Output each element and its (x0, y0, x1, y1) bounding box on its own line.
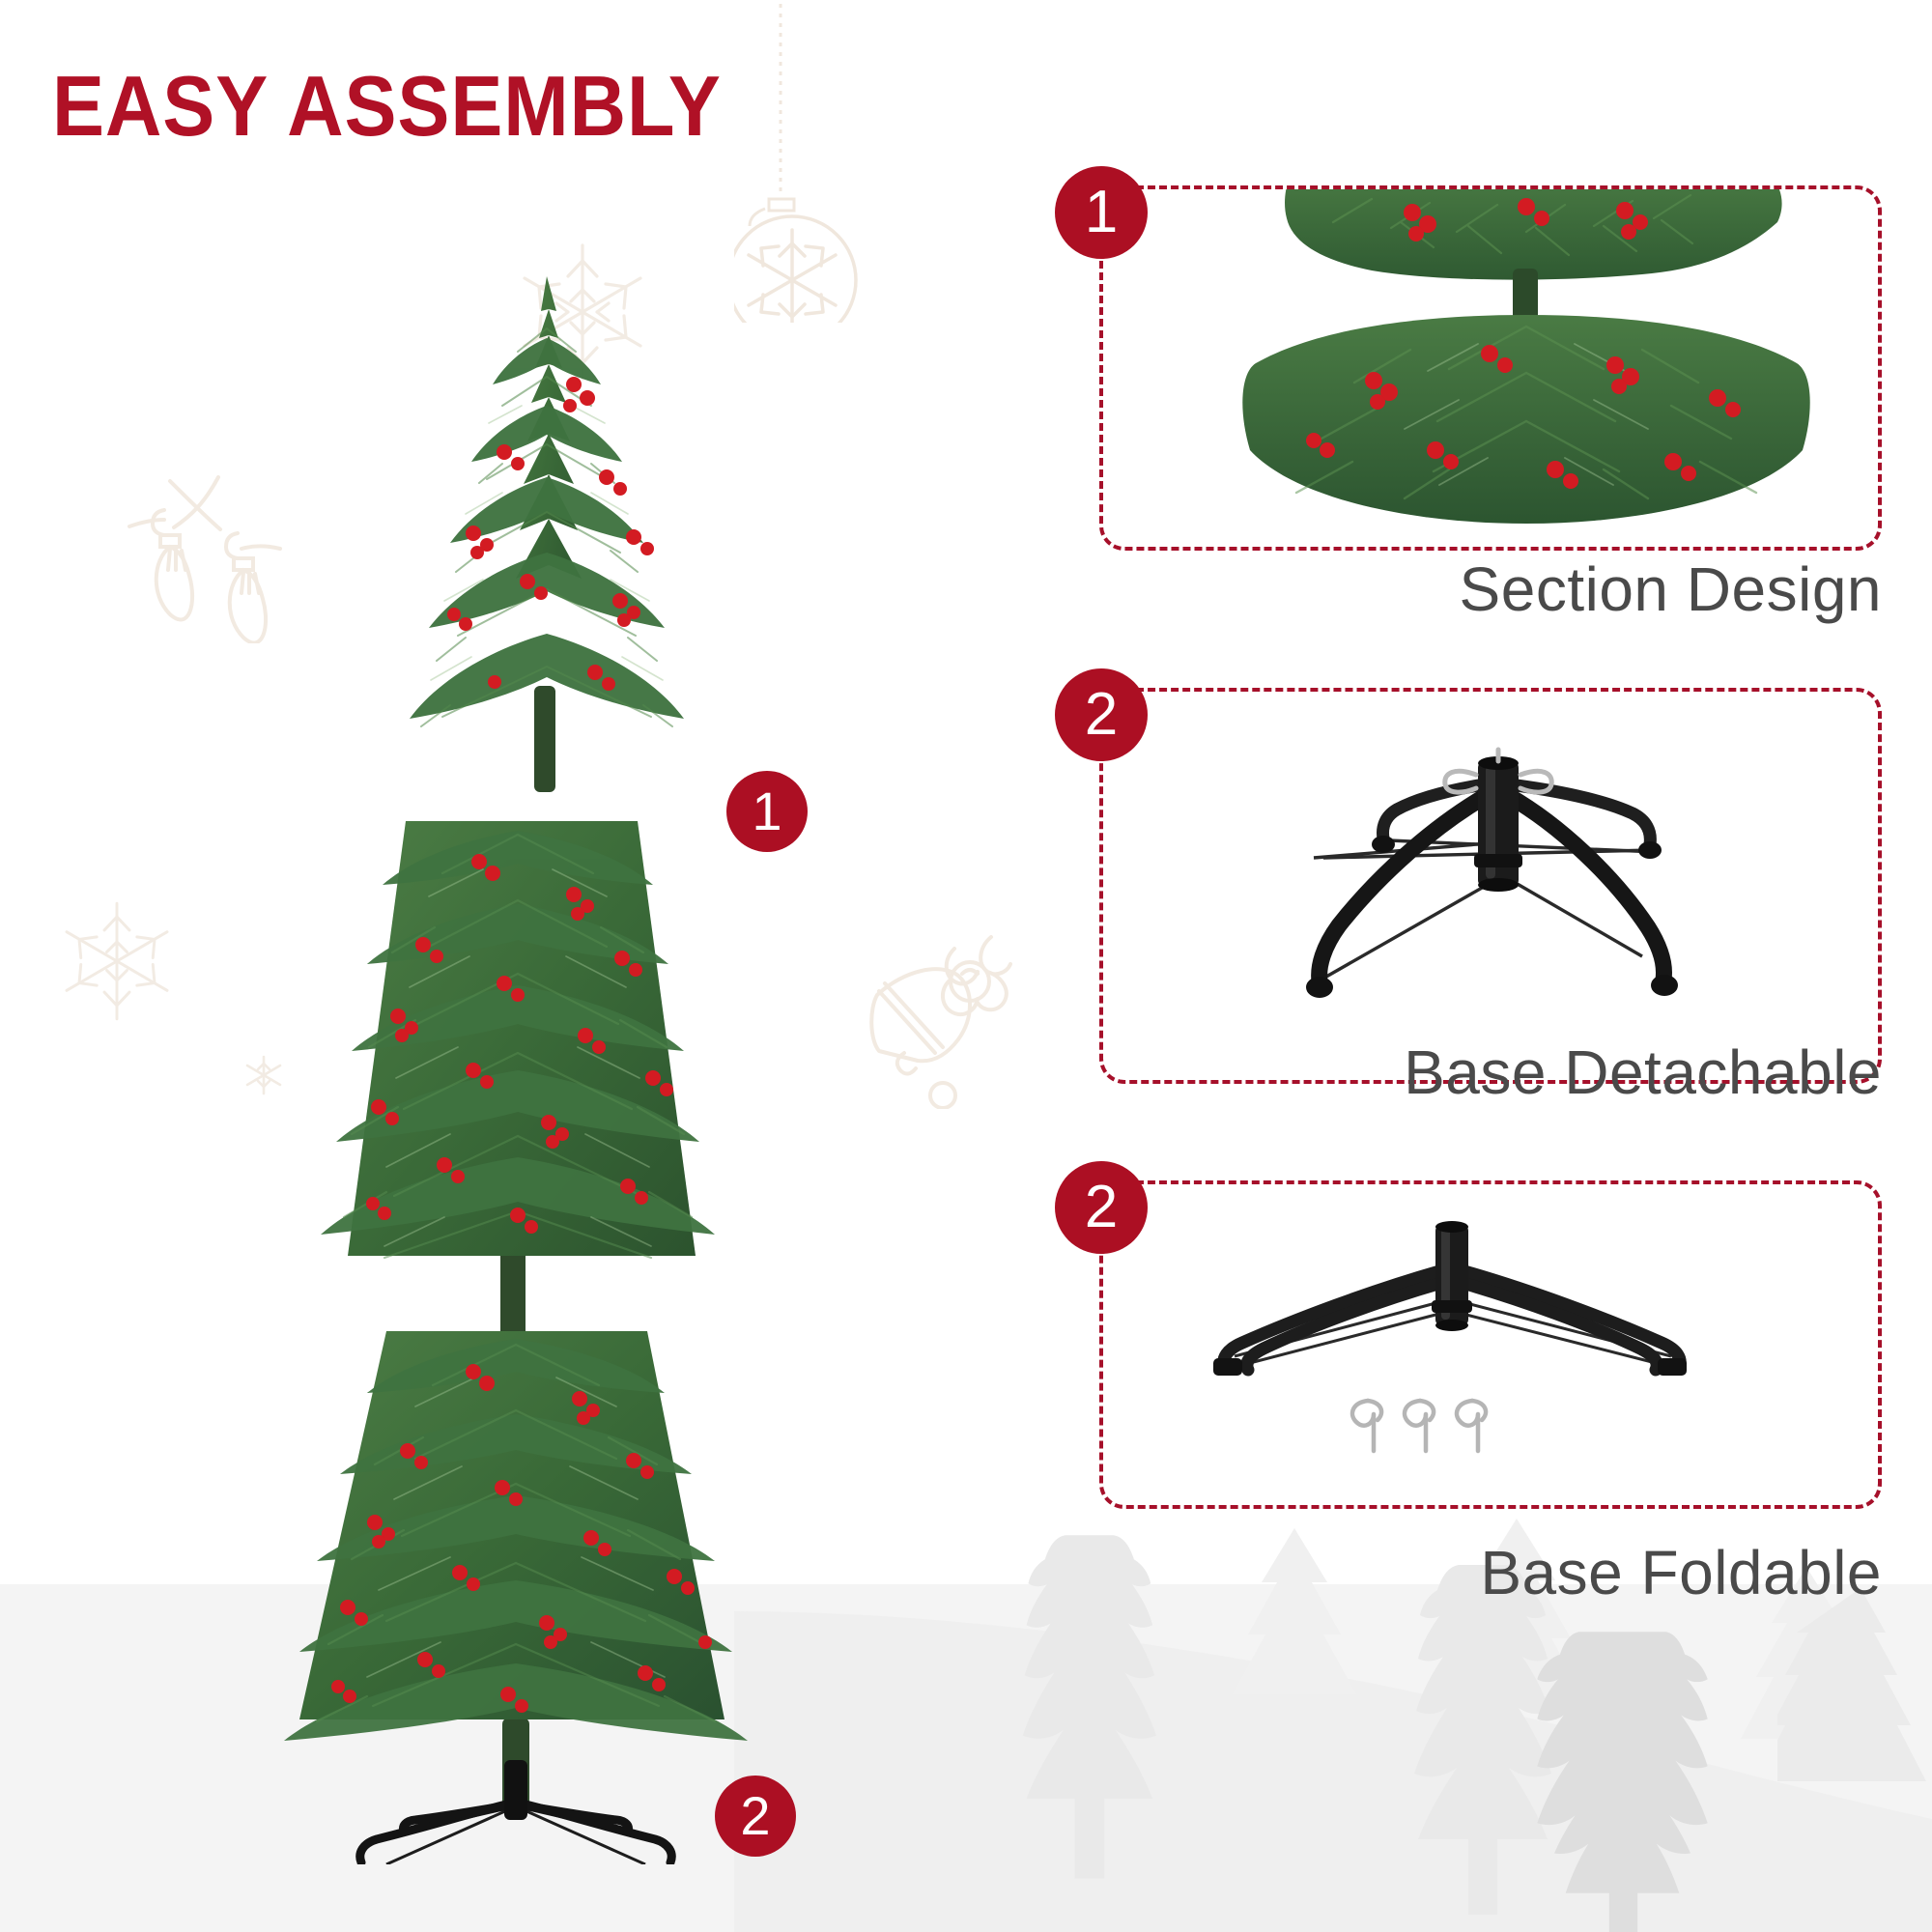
tree-stand-art (360, 1760, 671, 1864)
ornament-icon (734, 0, 908, 323)
tree-stand-assembled-photo (1130, 734, 1729, 1043)
tree-middle-section (290, 811, 753, 1352)
panel-caption-base-foldable: Base Foldable (916, 1542, 1882, 1604)
section-design-photo (1236, 189, 1816, 549)
tree-stand-folded-photo (1150, 1219, 1748, 1480)
panel-caption-section-design: Section Design (916, 558, 1882, 620)
snowflake-icon (54, 898, 180, 1024)
tree-top-section (357, 270, 734, 821)
panel-caption-base-detachable: Base Detachable (916, 1041, 1882, 1103)
snowflake-icon (241, 1053, 286, 1097)
panel-badge-2: 2 (1055, 668, 1148, 761)
infographic-canvas: EASY ASSEMBLY (0, 0, 1932, 1932)
tree-section-badge-2: 2 (715, 1776, 796, 1857)
string-lights-icon (97, 460, 309, 643)
pine-tree-icon (1777, 1584, 1932, 1932)
panel-badge-3: 2 (1055, 1161, 1148, 1254)
panel-badge-1: 1 (1055, 166, 1148, 259)
tree-bottom-section (261, 1323, 782, 1864)
page-title: EASY ASSEMBLY (52, 64, 722, 149)
tree-section-badge-1: 1 (726, 771, 808, 852)
